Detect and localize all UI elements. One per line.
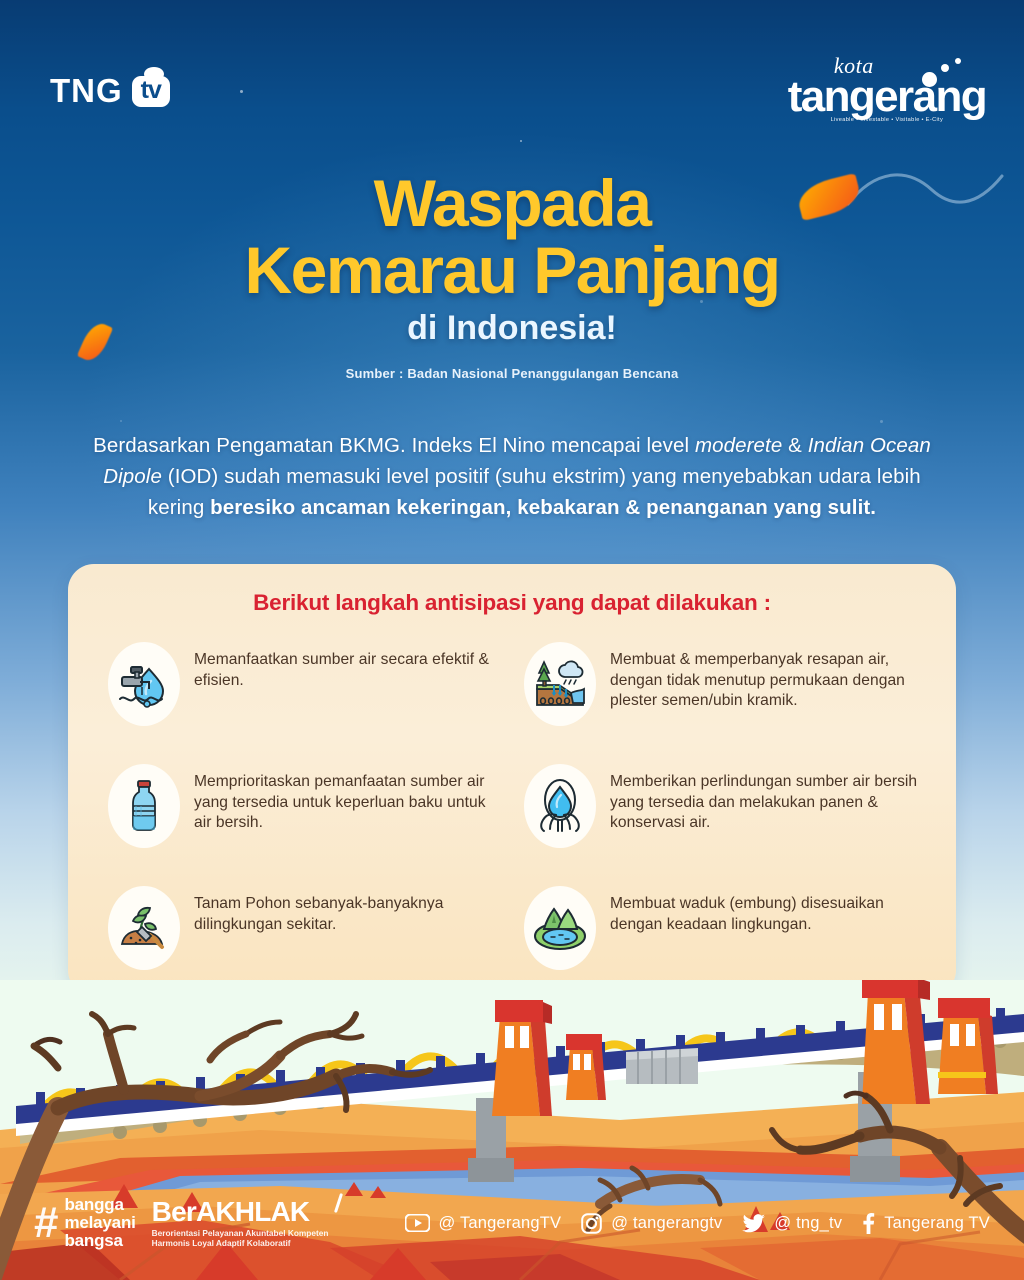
reservoir-hills-icon	[524, 886, 596, 970]
list-item-label: Membuat waduk (embung) disesuaikan denga…	[610, 882, 922, 935]
tng-logo-text: TNG	[50, 72, 123, 110]
infographic-poster: TNG tv kota tangerang Liveable • Investa…	[0, 0, 1024, 1280]
title-line-1: Waspada	[0, 172, 1024, 235]
intro-bold-risk: beresiko ancaman kekeringan, kebakaran &…	[210, 496, 876, 519]
list-item-label: Memberikan perlindungan sumber air bersi…	[610, 760, 922, 834]
bangga-line-3: bangsa	[64, 1231, 122, 1250]
list-item-label: Memanfaatkan sumber air secara efektif &…	[194, 638, 506, 691]
star-speck	[520, 140, 522, 142]
hands-water-drop-icon	[524, 764, 596, 848]
star-speck	[880, 420, 883, 423]
list-item: Tanam Pohon sebanyak-banyaknya dilingkun…	[108, 882, 506, 994]
card-heading: Berikut langkah antisipasi yang dapat di…	[68, 590, 956, 616]
kota-tagline: Liveable • Investable • Visitable • E-Ci…	[788, 117, 986, 123]
footer-bar: # bangga melayani bangsa BerAKHLAK Beror…	[0, 1190, 1024, 1256]
berakhlak-title: BerAKHLAK	[152, 1198, 329, 1226]
social-link-youtube[interactable]: @ TangerangTV	[405, 1214, 562, 1233]
intro-part-1: Berdasarkan Pengamatan BKMG. Indeks El N…	[93, 434, 695, 457]
bangga-line-1: bangga	[64, 1195, 123, 1214]
list-item-label: Tanam Pohon sebanyak-banyaknya dilingkun…	[194, 882, 506, 935]
list-item: Memberikan perlindungan sumber air bersi…	[524, 760, 922, 872]
twitter-icon	[742, 1214, 765, 1233]
intro-part-2: &	[782, 434, 807, 457]
list-item: Memanfaatkan sumber air secara efektif &…	[108, 638, 506, 750]
intro-paragraph: Berdasarkan Pengamatan BKMG. Indeks El N…	[84, 430, 940, 523]
star-speck	[240, 90, 243, 93]
facebook-icon	[862, 1213, 875, 1234]
social-handle: @ tangerangtv	[611, 1214, 722, 1233]
social-link-instagram[interactable]: @ tangerangtv	[581, 1213, 722, 1234]
social-handle: @ TangerangTV	[439, 1214, 562, 1233]
intro-italic-moderete: moderete	[695, 434, 782, 457]
social-handle: Tangerang TV	[884, 1214, 990, 1233]
berakhlak-logo: BerAKHLAK Berorientasi Pelayanan Akuntab…	[152, 1198, 329, 1248]
source-credit: Sumber : Badan Nasional Penanggulangan B…	[0, 366, 1024, 381]
list-item-label: Memprioritaskan pemanfaatan sumber air y…	[194, 760, 506, 834]
kota-logo-dots-icon	[914, 58, 966, 88]
title-line-3: di Indonesia!	[0, 309, 1024, 348]
hashtag-icon: #	[34, 1205, 58, 1240]
water-bottle-icon	[108, 764, 180, 848]
faucet-water-drop-icon	[108, 642, 180, 726]
berakhlak-sub-2: Harmonis Loyal Adaptif Kolaboratif	[152, 1238, 291, 1248]
instagram-icon	[581, 1213, 602, 1234]
tng-tv-logo[interactable]: TNG tv	[50, 72, 170, 110]
social-link-twitter[interactable]: @ tng_tv	[742, 1214, 842, 1233]
social-handle: @ tng_tv	[774, 1214, 842, 1233]
anticipation-steps-card: Berikut langkah antisipasi yang dapat di…	[68, 564, 956, 996]
youtube-icon	[405, 1214, 430, 1232]
list-item: Membuat & memperbanyak resapan air, deng…	[524, 638, 922, 750]
berakhlak-sub-1: Berorientasi Pelayanan Akuntabel Kompete…	[152, 1228, 329, 1238]
berakhlak-subtitle: Berorientasi Pelayanan Akuntabel Kompete…	[152, 1228, 329, 1248]
list-item: Memprioritaskan pemanfaatan sumber air y…	[108, 760, 506, 872]
social-links: @ TangerangTV @ tangerangtv	[405, 1213, 990, 1234]
bangga-line-2: melayani	[64, 1213, 135, 1232]
rain-infiltration-icon	[524, 642, 596, 726]
list-item-label: Membuat & memperbanyak resapan air, deng…	[610, 638, 922, 712]
social-link-facebook[interactable]: Tangerang TV	[862, 1213, 990, 1234]
steps-grid: Memanfaatkan sumber air secara efektif &…	[68, 616, 956, 994]
seedling-shovel-icon	[108, 886, 180, 970]
star-speck	[120, 420, 122, 422]
title-line-2: Kemarau Panjang	[0, 239, 1024, 302]
list-item: Membuat waduk (embung) disesuaikan denga…	[524, 882, 922, 994]
bangga-lines: bangga melayani bangsa	[64, 1196, 135, 1249]
bangga-melayani-bangsa-logo: # bangga melayani bangsa	[34, 1196, 136, 1249]
title-block: Waspada Kemarau Panjang di Indonesia! Su…	[0, 172, 1024, 381]
tv-badge-icon: tv	[132, 76, 170, 107]
